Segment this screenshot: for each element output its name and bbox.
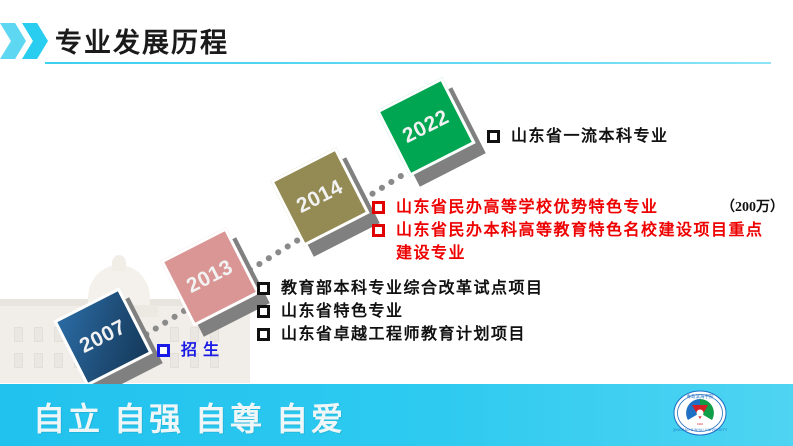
list-item: 山东省民办本科高等教育特色名校建设项目重点建设专业 xyxy=(372,219,784,265)
building-window xyxy=(34,353,43,368)
square-bullet-icon xyxy=(487,130,500,143)
page-title: 专业发展历程 xyxy=(55,21,229,60)
milestone-year-label: 2007 xyxy=(76,315,130,359)
annotation-text: 山东省一流本科专业 xyxy=(511,125,669,148)
square-bullet-icon xyxy=(372,224,385,237)
building-window xyxy=(34,327,43,342)
annotation-group-2022: 山东省一流本科专业 xyxy=(487,125,669,148)
square-bullet-icon xyxy=(157,344,170,357)
annotation-text: 教育部本科专业综合改革试点项目 xyxy=(281,277,544,300)
svg-text:1992: 1992 xyxy=(697,422,704,426)
annotation-group-2013: 教育部本科专业综合改革试点项目 山东省特色专业 山东省卓越工程师教育计划项目 xyxy=(257,277,544,346)
header-divider xyxy=(45,62,771,64)
milestone-2007[interactable]: 2007 xyxy=(66,300,140,374)
annotation-amount: （200万） xyxy=(721,196,784,219)
slide-canvas: 专业发展历程 2007 2013 2014 2022 山东省一流本科专业 xyxy=(0,0,793,446)
milestone-2013[interactable]: 2013 xyxy=(173,240,247,314)
annotation-group-2014: 山东省民办高等学校优势特色专业 （200万） 山东省民办本科高等教育特色名校建设… xyxy=(372,196,784,265)
milestone-year-label: 2022 xyxy=(399,105,453,149)
milestone-year-label: 2014 xyxy=(293,175,347,219)
list-item: 教育部本科专业综合改革试点项目 xyxy=(257,277,544,300)
milestone-year-label: 2013 xyxy=(183,255,237,299)
list-item: 山东省特色专业 xyxy=(257,300,544,323)
annotation-group-2007: 招生 xyxy=(157,339,225,362)
building-dome-finial xyxy=(112,255,126,271)
building-window xyxy=(14,353,23,368)
list-item: 招生 xyxy=(157,339,225,362)
milestone-2014[interactable]: 2014 xyxy=(283,160,357,234)
footer-motto: 自立 自强 自尊 自爱 xyxy=(33,394,346,440)
building-window xyxy=(14,327,23,342)
square-bullet-icon xyxy=(372,201,385,214)
list-item: 山东省一流本科专业 xyxy=(487,125,669,148)
annotation-text: 招生 xyxy=(181,339,225,362)
annotation-text: 山东省民办高等学校优势特色专业 xyxy=(396,196,721,219)
square-bullet-icon xyxy=(257,305,270,318)
svg-text:青岛滨海学院: 青岛滨海学院 xyxy=(687,393,714,400)
milestone-2022[interactable]: 2022 xyxy=(389,90,463,164)
university-logo[interactable]: 青岛滨海学院 QINGDAO BINHAI UNIVERSITY 1992 xyxy=(673,390,727,436)
chevron-right-icon xyxy=(0,23,26,59)
square-bullet-icon xyxy=(257,282,270,295)
header-chevron-group xyxy=(0,23,58,59)
square-bullet-icon xyxy=(257,328,270,341)
annotation-text: 山东省卓越工程师教育计划项目 xyxy=(281,323,526,346)
svg-text:QINGDAO BINHAI UNIVERSITY: QINGDAO BINHAI UNIVERSITY xyxy=(673,428,727,432)
annotation-text: 山东省民办本科高等教育特色名校建设项目重点建设专业 xyxy=(396,219,766,265)
annotation-text: 山东省特色专业 xyxy=(281,300,404,323)
building-window xyxy=(54,353,63,368)
list-item: 山东省卓越工程师教育计划项目 xyxy=(257,323,544,346)
list-item: 山东省民办高等学校优势特色专业 （200万） xyxy=(372,196,784,219)
